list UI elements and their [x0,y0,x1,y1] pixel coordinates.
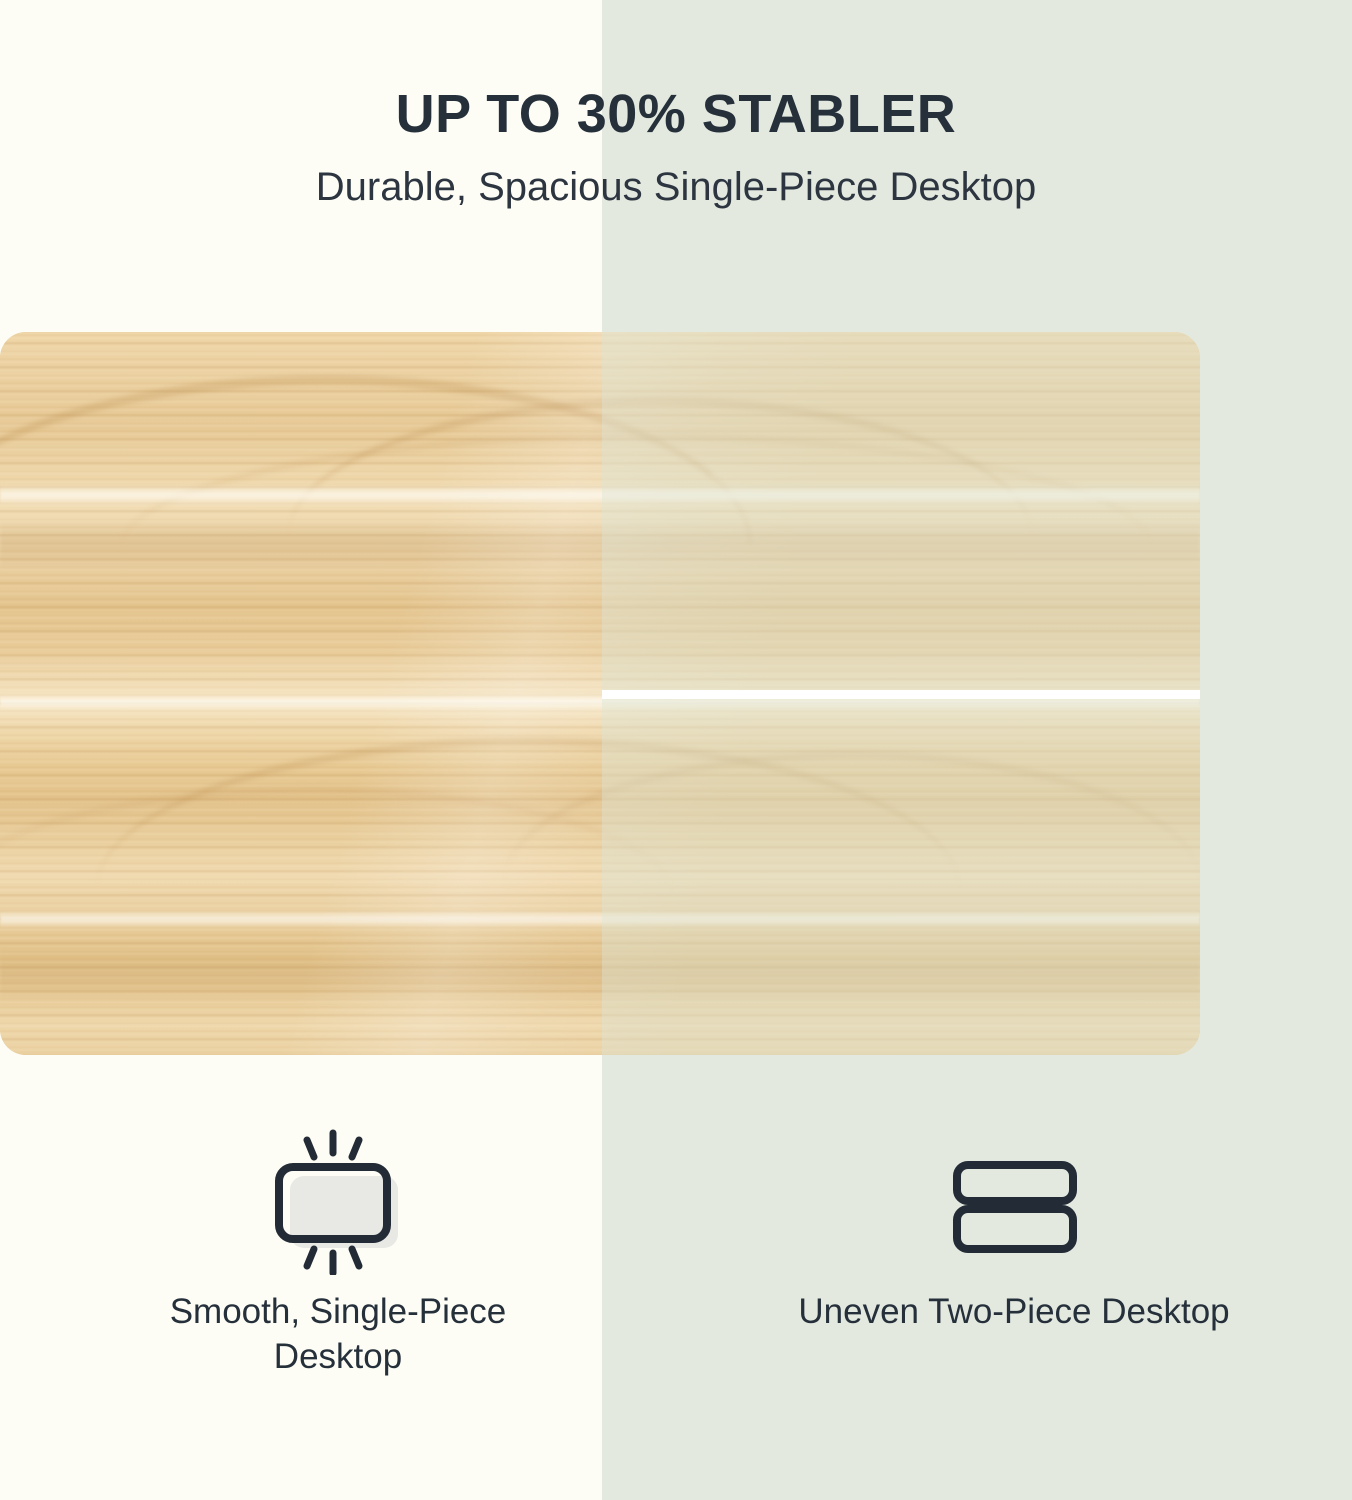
page-subtitle: Durable, Spacious Single-Piece Desktop [0,143,1352,209]
comparison-caption-left: Smooth, Single-Piece Desktop [103,1290,573,1380]
two-piece-desktop-icon [939,1125,1089,1275]
header: UP TO 30% STABLER Durable, Spacious Sing… [0,0,1352,209]
desktop-surface-image [0,332,1200,1055]
comparison-row: Smooth, Single-Piece Desktop Uneven Two-… [0,1120,1352,1440]
comparison-caption-right: Uneven Two-Piece Desktop [798,1290,1229,1335]
two-piece-seam-line [602,690,1200,699]
comparison-column-right: Uneven Two-Piece Desktop [676,1120,1352,1440]
promo-graphic: UP TO 30% STABLER Durable, Spacious Sing… [0,0,1352,1500]
comparison-column-left: Smooth, Single-Piece Desktop [0,1120,676,1440]
two-piece-icon-box [904,1120,1124,1280]
single-piece-desktop-icon [263,1125,413,1275]
page-title: UP TO 30% STABLER [0,0,1352,143]
single-piece-icon-box [228,1120,448,1280]
